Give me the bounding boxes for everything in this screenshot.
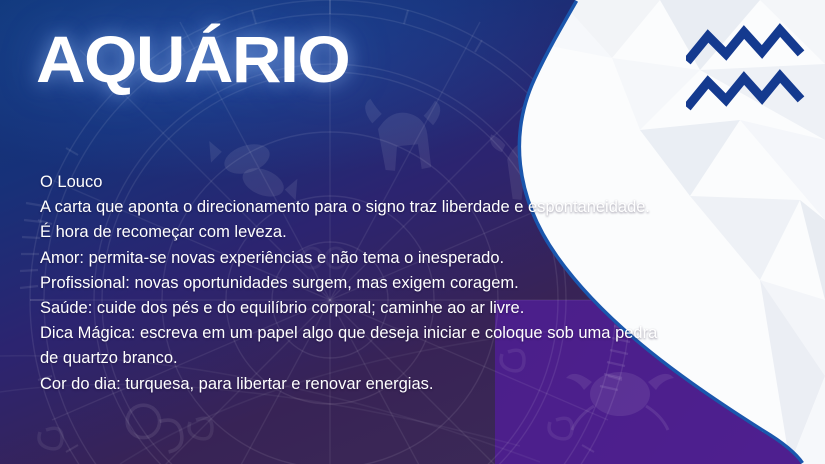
aquarius-icon [686, 22, 806, 114]
horoscope-line: Amor: permita-se novas experiências e nã… [40, 246, 780, 271]
horoscope-text-block: O Louco A carta que aponta o direcioname… [40, 170, 780, 397]
horoscope-card: AQUÁRIO O Louco A carta que aponta o dir… [0, 0, 825, 464]
horoscope-line: Profissional: novas oportunidades surgem… [40, 271, 780, 296]
horoscope-line: de quartzo branco. [40, 346, 780, 371]
horoscope-line: É hora de recomeçar com leveza. [40, 220, 780, 245]
horoscope-line: Dica Mágica: escreva em um papel algo qu… [40, 321, 780, 346]
horoscope-line: A carta que aponta o direcionamento para… [40, 195, 780, 220]
page-title: AQUÁRIO [36, 26, 349, 92]
horoscope-line: Cor do dia: turquesa, para libertar e re… [40, 372, 780, 397]
horoscope-line: O Louco [40, 170, 780, 195]
horoscope-line: Saúde: cuide dos pés e do equilíbrio cor… [40, 296, 780, 321]
